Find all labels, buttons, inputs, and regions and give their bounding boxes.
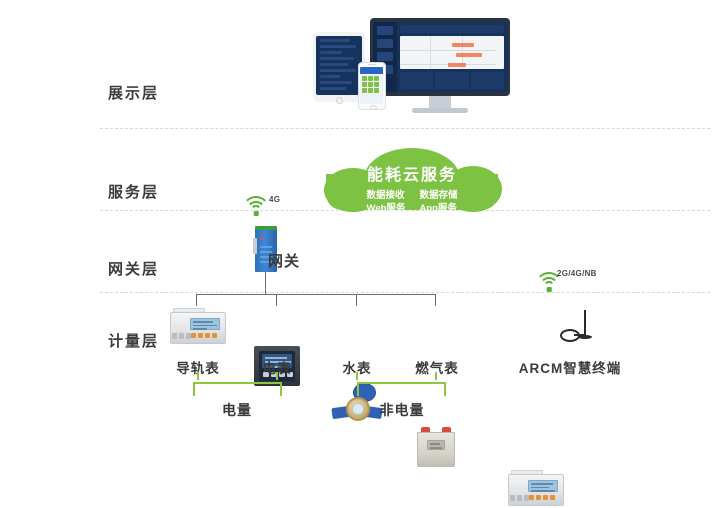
- cloud-title: 能耗云服务: [318, 161, 506, 185]
- layer-label-service: 服务层: [108, 181, 198, 202]
- cloud-item-data-storage: 数据存储: [419, 189, 457, 202]
- stem-water: [356, 372, 358, 380]
- connector-drop-electric: [276, 294, 277, 306]
- group-label-electricity: 电量: [207, 400, 267, 420]
- cloud-item-web-service: Web服务: [367, 202, 406, 215]
- connector-gateway-stem: [265, 272, 266, 294]
- monitor-stand-neck: [429, 96, 451, 108]
- smartphone-home-button: [370, 105, 377, 110]
- dashboard-cards: [400, 72, 504, 89]
- bracket-electricity-right: [280, 382, 282, 396]
- bracket-non-electricity-right: [444, 382, 446, 396]
- arcm-uplink-label: 2G/4G/NB: [557, 269, 597, 278]
- divider-gateway-metering: [100, 292, 710, 293]
- layer-label-display: 展示层: [108, 82, 198, 103]
- bracket-non-electricity-top: [357, 382, 445, 384]
- divider-display-service: [100, 128, 710, 129]
- cloud-item-data-receive: 数据接收: [367, 189, 406, 202]
- dashboard-header: [400, 25, 504, 33]
- arcm-terminal-icon: [508, 470, 564, 508]
- stem-din-rail: [197, 372, 199, 380]
- gas-meter-label: 燃气表: [406, 357, 468, 377]
- bracket-electricity-top: [193, 382, 281, 384]
- architecture-diagram: 展示层 服务层 网关层 计量层: [0, 0, 715, 443]
- bracket-electricity-left: [193, 382, 195, 396]
- cloud-service: 能耗云服务 数据接收 Web服务 数据存储 App服务: [318, 148, 506, 210]
- connector-drop-din: [196, 294, 197, 306]
- tablet-home-button: [336, 97, 343, 104]
- monitor-stand-foot: [412, 108, 468, 113]
- smartphone-screen: [360, 67, 383, 104]
- gateway-label: 网关: [268, 250, 318, 271]
- layer-label-gateway: 网关层: [108, 258, 198, 279]
- tablet-screen: [316, 36, 362, 95]
- smartphone-speaker: [368, 64, 376, 66]
- connector-drop-gas: [435, 294, 436, 306]
- dashboard-main: [397, 22, 507, 92]
- dashboard-map: [400, 36, 504, 69]
- arcm-terminal-label: ARCM智慧终端: [515, 357, 625, 377]
- cloud-item-app-service: App服务: [419, 202, 457, 215]
- wifi-icon-gateway: [243, 196, 269, 216]
- gas-meter-icon: [415, 427, 457, 467]
- monitor-screen: [373, 22, 507, 92]
- monitor-device: [370, 18, 510, 96]
- connector-drop-water: [356, 294, 357, 306]
- group-label-non-electricity: 非电量: [366, 400, 438, 420]
- din-rail-meter-icon: [170, 308, 226, 346]
- cloud-column-1: 数据接收 Web服务: [367, 189, 406, 215]
- connector-bus: [196, 294, 435, 295]
- cloud-column-2: 数据存储 App服务: [419, 189, 457, 215]
- bracket-non-electricity-left: [357, 382, 359, 396]
- smartphone-device: [358, 62, 386, 110]
- stem-electric: [276, 372, 278, 380]
- stem-gas: [435, 372, 437, 380]
- antenna-icon: [560, 310, 594, 342]
- gateway-uplink-label: 4G: [269, 195, 280, 204]
